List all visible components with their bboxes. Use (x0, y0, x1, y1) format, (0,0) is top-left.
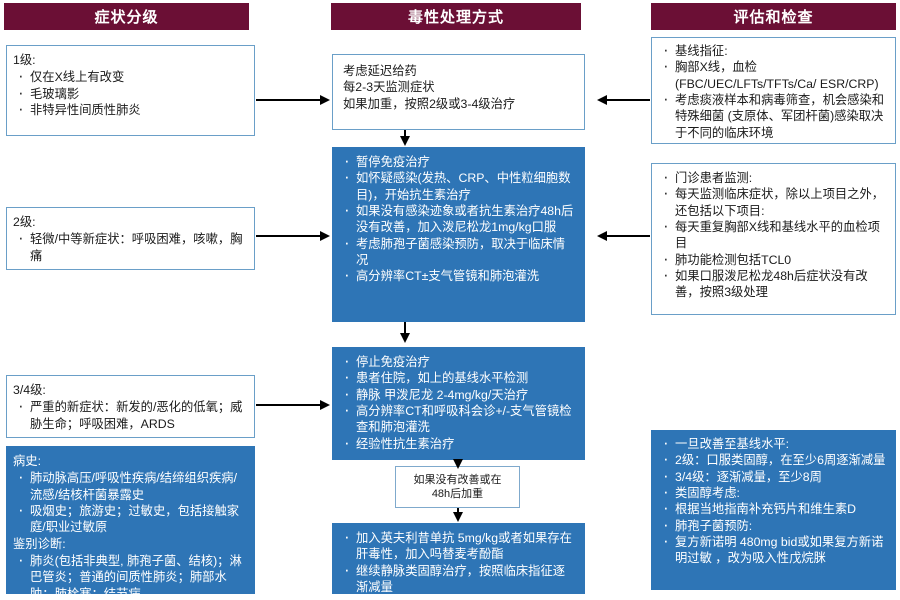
list-item: 暂停免疫治疗 (339, 154, 576, 170)
flowchart-canvas: 症状分级 毒性处理方式 评估和检查 1级: 仅在X线上有改变 毛玻璃影 非特异性… (0, 0, 900, 600)
middle-escalation-list: 加入英夫利昔单抗 5mg/kg或者如果存在肝毒性，加入吗替麦考酚酯 继续静脉类固… (339, 530, 576, 595)
list-item: 非特异性间质性肺炎 (13, 102, 246, 118)
list-item: 肺动脉高压/呼吸性疾病/结缔组织疾病/流感/结核杆菌暴露史 (13, 470, 246, 503)
condition-line-2: 48h后加重 (432, 487, 483, 501)
list-item: 如果没有感染迹象或者抗生素治疗48h后没有改善，加入泼尼松龙1mg/kg口服 (339, 203, 576, 236)
list-item: 继续静脉类固醇治疗，按照临床指征逐渐减量 (339, 563, 576, 596)
list-item: 门诊患者监测: (658, 170, 887, 186)
column-header-assessment-investigation-label: 评估和检查 (733, 6, 813, 27)
middle-grade2-list: 暂停免疫治疗 如怀疑感染(发热、CRP、中性粒细胞数目)，开始抗生素治疗 如果没… (339, 154, 576, 285)
middle-escalation-box: 加入英夫利昔单抗 5mg/kg或者如果存在肝毒性，加入吗替麦考酚酯 继续静脉类固… (332, 523, 585, 594)
connector-grade34-to-action (256, 404, 320, 406)
arrow-action3-to-condition-icon (453, 459, 463, 469)
grade34-heading: 3/4级: (13, 382, 246, 398)
list-item: 肺功能检测包括TCL0 (658, 252, 887, 268)
middle-grade34-list: 停止免疫治疗 患者住院，如上的基线水平检测 静脉 甲泼尼龙 2-4mg/kg/天… (339, 354, 576, 452)
column-header-symptom-grading: 症状分级 (4, 3, 249, 30)
list-item: 基线指征: (658, 43, 887, 59)
text-line: 如果加重，按照2级或3-4级治疗 (343, 96, 576, 112)
list-item: 根据当地指南补充钙片和维生素D (658, 501, 887, 517)
grade2-heading: 2级: (13, 214, 246, 230)
middle-grade1-lines: 考虑延迟给药 每2-3天监测症状 如果加重，按照2级或3-4级治疗 (343, 63, 576, 112)
arrow-action2-to-action3-icon (400, 333, 410, 343)
list-item: 轻微/中等新症状：呼吸困难，咳嗽，胸痛 (13, 231, 246, 264)
list-item: 胸部X线，血检(FBC/UEC/LFTs/TFTs/Ca/ ESR/CRP) (658, 59, 887, 92)
list-item: 肺孢子菌预防: (658, 518, 887, 534)
grade34-box: 3/4级: 严重的新症状：新发的/恶化的低氧；威胁生命；呼吸困难，ARDS (6, 375, 255, 438)
arrow-condition-to-escalation-icon (453, 512, 463, 522)
no-improvement-condition-box: 如果没有改善或在 48h后加重 (395, 466, 520, 508)
outpatient-monitoring-list: 门诊患者监测: 每天监测临床症状，除以上项目之外，还包括以下项目: 每天重复胸部… (658, 170, 887, 301)
baseline-investigations-box: 基线指征: 胸部X线，血检(FBC/UEC/LFTs/TFTs/Ca/ ESR/… (651, 37, 896, 144)
connector-baseline-to-action (607, 99, 650, 101)
grade2-box: 2级: 轻微/中等新症状：呼吸困难，咳嗽，胸痛 (6, 207, 255, 270)
list-item: 加入英夫利昔单抗 5mg/kg或者如果存在肝毒性，加入吗替麦考酚酯 (339, 530, 576, 563)
column-header-symptom-grading-label: 症状分级 (94, 6, 158, 27)
list-item: 经验性抗生素治疗 (339, 436, 576, 452)
history-differential-box: 病史: 肺动脉高压/呼吸性疾病/结缔组织疾病/流感/结核杆菌暴露史 吸烟史；旅游… (6, 446, 255, 594)
column-header-toxicity-management-label: 毒性处理方式 (408, 6, 504, 27)
list-item: 每天监测临床症状，除以上项目之外，还包括以下项目: (658, 186, 887, 219)
list-item: 考虑痰液样本和病毒筛查，机会感染和特殊细菌 (支原体、军团杆菌)感染取决于不同的… (658, 92, 887, 141)
list-item: 3/4级：逐渐减量，至少8周 (658, 469, 887, 485)
list-item: 静脉 甲泼尼龙 2-4mg/kg/天治疗 (339, 387, 576, 403)
list-item: 每天重复胸部X线和基线水平的血检项目 (658, 219, 887, 252)
list-item: 高分辨率CT和呼吸科会诊+/-支气管镜检查和肺泡灌洗 (339, 403, 576, 436)
history-heading: 病史: (13, 453, 246, 469)
list-item: 类固醇考虑: (658, 485, 887, 501)
grade34-list: 严重的新症状：新发的/恶化的低氧；威胁生命；呼吸困难，ARDS (13, 399, 246, 432)
grade1-heading: 1级: (13, 52, 246, 68)
arrow-monitoring-to-action-icon (597, 231, 607, 241)
grade1-list: 仅在X线上有改变 毛玻璃影 非特异性间质性肺炎 (13, 69, 246, 118)
list-item: 毛玻璃影 (13, 86, 246, 102)
list-item: 高分辨率CT±支气管镜和肺泡灌洗 (339, 268, 576, 284)
list-item: 一旦改善至基线水平: (658, 436, 887, 452)
condition-line-1: 如果没有改善或在 (414, 473, 502, 487)
list-item: 如怀疑感染(发热、CRP、中性粒细胞数目)，开始抗生素治疗 (339, 170, 576, 203)
arrow-grade34-to-action-icon (320, 400, 330, 410)
text-line: 每2-3天监测症状 (343, 79, 576, 95)
grade2-list: 轻微/中等新症状：呼吸困难，咳嗽，胸痛 (13, 231, 246, 264)
list-item: 如果口服泼尼松龙48h后症状没有改善，按照3级处理 (658, 268, 887, 301)
grade1-box: 1级: 仅在X线上有改变 毛玻璃影 非特异性间质性肺炎 (6, 45, 255, 136)
arrow-action1-to-action2-icon (400, 136, 410, 146)
list-item: 患者住院，如上的基线水平检测 (339, 370, 576, 386)
history-list: 肺动脉高压/呼吸性疾病/结缔组织疾病/流感/结核杆菌暴露史 吸烟史；旅游史；过敏… (13, 470, 246, 535)
middle-grade1-action-box: 考虑延迟给药 每2-3天监测症状 如果加重，按照2级或3-4级治疗 (332, 54, 585, 130)
arrow-grade2-to-action-icon (320, 231, 330, 241)
connector-grade2-to-action (256, 235, 320, 237)
text-line: 考虑延迟给药 (343, 63, 576, 79)
list-item: 吸烟史；旅游史；过敏史，包括接触家庭/职业过敏原 (13, 503, 246, 536)
column-header-toxicity-management: 毒性处理方式 (331, 3, 581, 30)
baseline-investigations-list: 基线指征: 胸部X线，血检(FBC/UEC/LFTs/TFTs/Ca/ ESR/… (658, 43, 887, 141)
list-item: 考虑肺孢子菌感染预防，取决于临床情况 (339, 236, 576, 269)
steroid-taper-box: 一旦改善至基线水平: 2级：口服类固醇，在至少6周逐渐减量 3/4级：逐渐减量，… (651, 430, 896, 590)
list-item: 肺炎(包括非典型, 肺孢子菌、结核)；淋巴管炎；普通的间质性肺炎；肺部水肿；肺栓… (13, 553, 246, 600)
connector-grade1-to-action (256, 99, 320, 101)
list-item: 复方新诺明 480mg bid或如果复方新诺明过敏 ，改为吸入性戊烷脒 (658, 534, 887, 567)
list-item: 停止免疫治疗 (339, 354, 576, 370)
middle-grade2-action-box: 暂停免疫治疗 如怀疑感染(发热、CRP、中性粒细胞数目)，开始抗生素治疗 如果没… (332, 147, 585, 322)
connector-monitoring-to-action (607, 235, 650, 237)
arrow-baseline-to-action-icon (597, 95, 607, 105)
list-item: 仅在X线上有改变 (13, 69, 246, 85)
column-header-assessment-investigation: 评估和检查 (651, 3, 896, 30)
list-item: 严重的新症状：新发的/恶化的低氧；威胁生命；呼吸困难，ARDS (13, 399, 246, 432)
differential-list: 肺炎(包括非典型, 肺孢子菌、结核)；淋巴管炎；普通的间质性肺炎；肺部水肿；肺栓… (13, 553, 246, 600)
differential-heading: 鉴别诊断: (13, 536, 246, 552)
steroid-taper-list: 一旦改善至基线水平: 2级：口服类固醇，在至少6周逐渐减量 3/4级：逐渐减量，… (658, 436, 887, 567)
arrow-grade1-to-action-icon (320, 95, 330, 105)
middle-grade34-action-box: 停止免疫治疗 患者住院，如上的基线水平检测 静脉 甲泼尼龙 2-4mg/kg/天… (332, 347, 585, 460)
outpatient-monitoring-box: 门诊患者监测: 每天监测临床症状，除以上项目之外，还包括以下项目: 每天重复胸部… (651, 163, 896, 315)
list-item: 2级：口服类固醇，在至少6周逐渐减量 (658, 452, 887, 468)
